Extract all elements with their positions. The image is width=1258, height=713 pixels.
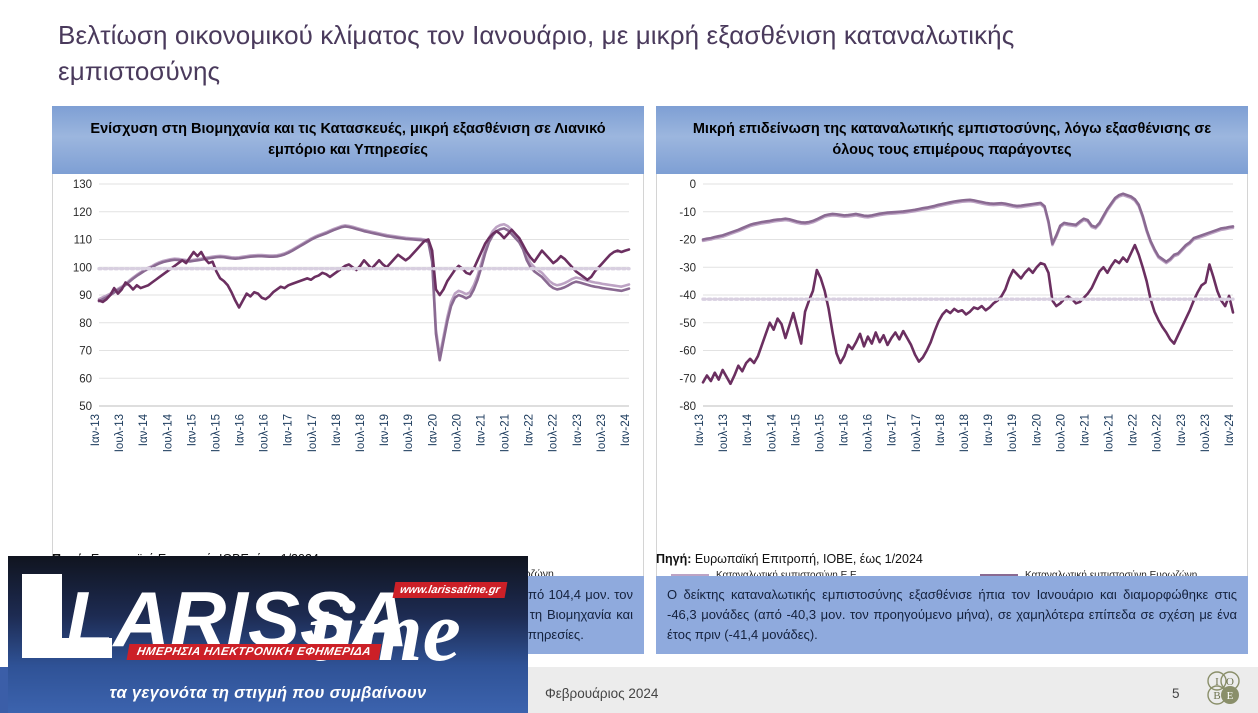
svg-text:Ιουλ-19: Ιουλ-19 [403, 414, 415, 452]
svg-text:Ιαν-17: Ιαν-17 [283, 414, 295, 446]
panel-header-left: Ενίσχυση στη Βιομηχανία και τις Κατασκευ… [52, 106, 644, 174]
svg-text:Ιαν-19: Ιαν-19 [379, 414, 391, 446]
svg-text:Ιαν-21: Ιαν-21 [1080, 414, 1092, 446]
svg-text:Ιουλ-23: Ιουλ-23 [596, 414, 608, 452]
svg-text:Ιαν-21: Ιαν-21 [476, 414, 488, 446]
svg-text:Ιουλ-16: Ιουλ-16 [259, 414, 271, 452]
svg-text:-30: -30 [679, 262, 696, 274]
svg-text:130: 130 [73, 179, 92, 191]
svg-text:Ιουλ-14: Ιουλ-14 [766, 413, 778, 452]
svg-text:Ιουλ-21: Ιουλ-21 [500, 414, 512, 452]
plot-area-left: 5060708090100110120130Ιαν-13Ιουλ-13Ιαν-1… [53, 174, 643, 484]
chart-panel-economic-sentiment: Ενίσχυση στη Βιομηχανία και τις Κατασκευ… [52, 106, 644, 608]
svg-text:0: 0 [690, 179, 696, 191]
svg-text:-80: -80 [679, 401, 696, 413]
svg-text:Ιαν-22: Ιαν-22 [1128, 414, 1140, 446]
footer-page-number: 5 [1172, 686, 1180, 701]
wm-url-badge: www.larissatime.gr [393, 582, 508, 598]
wm-tagline: τα γεγονότα τη στιγμή που συμβαίνουν [8, 684, 528, 703]
svg-text:Ιουλ-13: Ιουλ-13 [718, 414, 730, 452]
svg-text:E: E [1227, 690, 1234, 702]
svg-text:Ιαν-19: Ιαν-19 [983, 414, 995, 446]
line-chart-left: 5060708090100110120130Ιαν-13Ιουλ-13Ιαν-1… [53, 174, 643, 484]
svg-text:I: I [1215, 676, 1219, 688]
wm-subtitle-badge: ΗΜΕΡΗΣΙΑ ΗΛΕΚΤΡΟΝΙΚΗ ΕΦΗΜΕΡΙΔΑ [127, 644, 382, 660]
svg-text:80: 80 [79, 318, 92, 330]
svg-text:Ιαν-14: Ιαν-14 [138, 413, 150, 446]
source-note-right: Πηγή: Ευρωπαϊκή Επιτροπή, ΙΟΒΕ, έως 1/20… [656, 552, 1248, 566]
svg-text:Ιουλ-18: Ιουλ-18 [355, 414, 367, 452]
source-label-right: Πηγή: [656, 552, 691, 566]
svg-text:Ιουλ-18: Ιουλ-18 [959, 414, 971, 452]
svg-text:Ιαν-16: Ιαν-16 [839, 414, 851, 446]
svg-text:-20: -20 [679, 235, 696, 247]
svg-text:Ιαν-24: Ιαν-24 [620, 413, 632, 446]
svg-text:O: O [1226, 676, 1234, 688]
svg-text:120: 120 [73, 207, 92, 219]
source-text-right: Ευρωπαϊκή Επιτροπή, ΙΟΒΕ, έως 1/2024 [691, 552, 922, 566]
svg-text:Ιουλ-13: Ιουλ-13 [114, 414, 126, 452]
svg-text:60: 60 [79, 373, 92, 385]
svg-text:Ιαν-23: Ιαν-23 [1176, 414, 1188, 446]
svg-text:-70: -70 [679, 373, 696, 385]
svg-text:-60: -60 [679, 346, 696, 358]
svg-text:B: B [1213, 690, 1220, 702]
svg-text:Ιαν-14: Ιαν-14 [742, 413, 754, 446]
svg-text:Ιαν-16: Ιαν-16 [235, 414, 247, 446]
svg-text:-10: -10 [679, 207, 696, 219]
svg-text:70: 70 [79, 346, 92, 358]
larissatime-watermark: LARISSA time www.larissatime.gr ΗΜΕΡΗΣΙΑ… [8, 556, 528, 713]
plot-area-right: -80-70-60-50-40-30-20-100Ιαν-13Ιουλ-13Ια… [657, 174, 1247, 484]
iobe-logo-icon: I O B E [1204, 669, 1244, 709]
svg-text:Ιουλ-19: Ιουλ-19 [1007, 414, 1019, 452]
svg-text:Ιαν-13: Ιαν-13 [694, 414, 706, 446]
svg-text:-40: -40 [679, 290, 696, 302]
svg-text:Ιαν-18: Ιαν-18 [935, 414, 947, 446]
svg-text:Ιαν-24: Ιαν-24 [1224, 413, 1236, 446]
svg-text:Ιαν-18: Ιαν-18 [331, 414, 343, 446]
svg-text:Ιαν-15: Ιαν-15 [790, 414, 802, 446]
svg-text:110: 110 [74, 235, 92, 247]
svg-text:Ιουλ-21: Ιουλ-21 [1104, 414, 1116, 452]
svg-text:Ιουλ-20: Ιουλ-20 [451, 414, 463, 452]
svg-text:Ιαν-13: Ιαν-13 [90, 414, 102, 446]
svg-text:Ιαν-20: Ιαν-20 [1031, 414, 1043, 446]
svg-text:Ιαν-17: Ιαν-17 [887, 414, 899, 446]
svg-text:-50: -50 [679, 318, 696, 330]
svg-text:Ιουλ-22: Ιουλ-22 [548, 414, 560, 452]
svg-text:90: 90 [79, 290, 92, 302]
svg-text:Ιουλ-17: Ιουλ-17 [911, 414, 923, 452]
svg-text:Ιουλ-15: Ιουλ-15 [211, 414, 223, 452]
svg-text:Ιουλ-20: Ιουλ-20 [1055, 414, 1067, 452]
svg-text:100: 100 [73, 262, 92, 274]
chart-container-right: -80-70-60-50-40-30-20-100Ιαν-13Ιουλ-13Ια… [656, 174, 1248, 608]
line-chart-right: -80-70-60-50-40-30-20-100Ιαν-13Ιουλ-13Ια… [657, 174, 1247, 484]
chart-panel-consumer-confidence: Μικρή επιδείνωση της καταναλωτικής εμπισ… [656, 106, 1248, 608]
panel-header-right: Μικρή επιδείνωση της καταναλωτικής εμπισ… [656, 106, 1248, 174]
svg-text:Ιουλ-15: Ιουλ-15 [815, 414, 827, 452]
svg-text:Ιαν-23: Ιαν-23 [572, 414, 584, 446]
svg-text:50: 50 [79, 401, 92, 413]
svg-text:Ιουλ-23: Ιουλ-23 [1200, 414, 1212, 452]
page-title: Βελτίωση οικονομικού κλίματος τον Ιανουά… [58, 18, 1058, 90]
svg-text:Ιαν-20: Ιαν-20 [427, 414, 439, 446]
commentary-box-right: Ο δείκτης καταναλωτικής εμπιστοσύνης εξα… [656, 576, 1248, 654]
svg-text:Ιουλ-16: Ιουλ-16 [863, 414, 875, 452]
chart-container-left: 5060708090100110120130Ιαν-13Ιουλ-13Ιαν-1… [52, 174, 644, 608]
svg-text:Ιαν-22: Ιαν-22 [524, 414, 536, 446]
svg-text:Ιουλ-17: Ιουλ-17 [307, 414, 319, 452]
footer-date: Φεβρουάριος 2024 [545, 686, 658, 701]
svg-text:Ιαν-15: Ιαν-15 [186, 414, 198, 446]
svg-text:Ιουλ-22: Ιουλ-22 [1152, 414, 1164, 452]
svg-text:Ιουλ-14: Ιουλ-14 [162, 413, 174, 452]
